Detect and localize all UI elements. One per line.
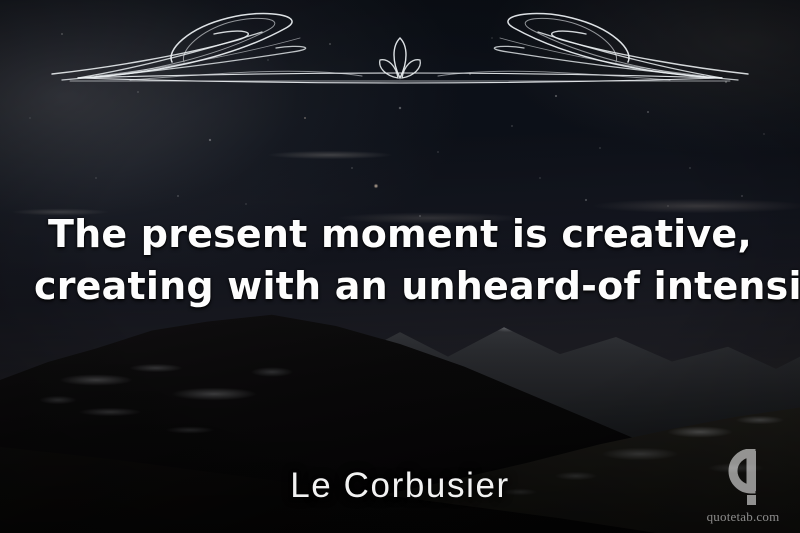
quotetab-q-logo-icon <box>713 449 773 507</box>
flourish-divider-ornament <box>0 2 800 98</box>
watermark-site-label: quotetab.com <box>707 509 780 525</box>
quote-author: Le Corbusier <box>0 466 800 506</box>
quote-text-block: The present moment is creative, creating… <box>0 208 800 312</box>
watermark[interactable]: quotetab.com <box>698 443 788 525</box>
flourish-divider-icon <box>0 2 800 98</box>
quote-card: The present moment is creative, creating… <box>0 0 800 533</box>
quote-line-1: The present moment is creative, <box>34 208 766 260</box>
quote-line-2: creating with an unheard-of intensity. <box>34 260 766 312</box>
